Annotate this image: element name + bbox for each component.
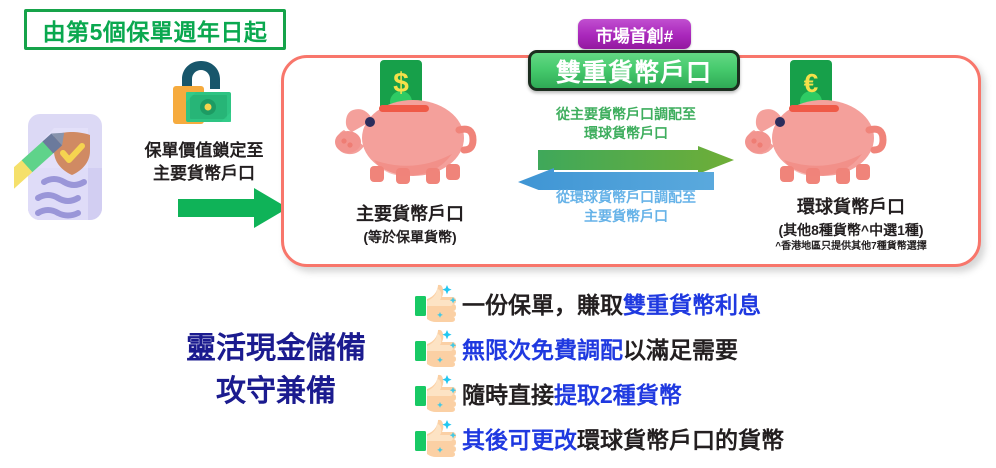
flexible-cash-heading: 靈活現金儲備 攻守兼備	[148, 328, 404, 413]
thumbs-up-icon	[414, 373, 460, 413]
lock-caption-line1: 保單價值鎖定至	[120, 140, 288, 163]
policy-document-icon	[14, 108, 110, 226]
primary-account-sub: (等於保單貨幣)	[320, 228, 500, 246]
benefit-item: 其後可更改環球貨幣戶口的貨幣	[414, 417, 984, 459]
thumbs-up-icon	[414, 328, 460, 368]
svg-text:$: $	[393, 67, 409, 98]
benefit-item: 一份保單，賺取雙重貨幣利息	[414, 282, 984, 324]
left-arrow-icon	[518, 168, 714, 190]
benefit-highlight: 其後可更改	[462, 427, 577, 453]
global-account-title: 環球貨幣戶口	[726, 196, 976, 219]
flexible-cash-heading-line1: 靈活現金儲備	[148, 328, 404, 371]
benefit-highlight: 提取2種貨幣	[554, 382, 682, 408]
transfer-bottom-line1: 從環球貨幣戶口調配至	[518, 188, 734, 207]
benefit-text: 無限次免費調配以滿足需要	[462, 331, 738, 365]
transfer-top-line2: 環球貨幣戶口	[518, 124, 734, 143]
benefit-text: 其後可更改環球貨幣戶口的貨幣	[462, 421, 784, 455]
market-first-badge-label: 市場首創#	[596, 22, 673, 47]
transfer-bottom-line2: 主要貨幣戶口	[518, 207, 734, 226]
benefit-highlight: 無限次免費調配	[462, 337, 623, 363]
transfer-arrows	[516, 146, 736, 190]
benefit-item: 無限次免費調配以滿足需要	[414, 327, 984, 369]
benefit-plain1: 隨時直接	[462, 382, 554, 408]
benefit-item: 隨時直接提取2種貨幣	[414, 372, 984, 414]
benefit-text: 隨時直接提取2種貨幣	[462, 376, 682, 410]
global-account-caption: 環球貨幣戶口 (其他8種貨幣^中選1種) ^香港地區只提供其他7種貨幣選擇	[726, 196, 976, 253]
lock-caption-line2: 主要貨幣戶口	[120, 163, 288, 186]
global-account-footnote: ^香港地區只提供其他7種貨幣選擇	[726, 240, 976, 253]
benefit-list: 一份保單，賺取雙重貨幣利息 無限次免費調配以滿足需要	[414, 282, 984, 462]
benefit-text: 一份保單，賺取雙重貨幣利息	[462, 286, 761, 320]
transfer-primary-to-global-label: 從主要貨幣戶口調配至 環球貨幣戶口	[518, 105, 734, 143]
primary-account-piggy-bank: $	[330, 58, 490, 198]
transfer-top-line1: 從主要貨幣戶口調配至	[518, 105, 734, 124]
lock-caption: 保單價值鎖定至 主要貨幣戶口	[120, 140, 288, 186]
right-arrow-icon	[538, 146, 734, 174]
global-account-sub: (其他8種貨幣^中選1種)	[726, 221, 976, 239]
primary-account-caption: 主要貨幣戶口 (等於保單貨幣)	[320, 203, 500, 246]
start-date-banner-label: 由第5個保單週年日起	[43, 13, 268, 47]
flexible-cash-heading-line2: 攻守兼備	[148, 371, 404, 414]
primary-account-title: 主要貨幣戶口	[320, 203, 500, 226]
market-first-badge: 市場首創#	[578, 19, 691, 49]
start-date-banner: 由第5個保單週年日起	[24, 9, 286, 50]
thumbs-up-icon	[414, 418, 460, 458]
svg-text:€: €	[804, 68, 818, 98]
global-account-piggy-bank: €	[740, 58, 900, 198]
transfer-global-to-primary-label: 從環球貨幣戶口調配至 主要貨幣戶口	[518, 188, 734, 226]
dual-currency-title-label: 雙重貨幣戶口	[556, 53, 712, 89]
benefit-highlight: 雙重貨幣利息	[623, 292, 761, 318]
benefit-plain2: 以滿足需要	[623, 337, 738, 363]
benefit-plain1: 一份保單，賺取	[462, 292, 623, 318]
thumbs-up-icon	[414, 283, 460, 323]
right-arrow-icon	[178, 188, 288, 228]
benefit-plain2: 環球貨幣戶口的貨幣	[577, 427, 784, 453]
dual-currency-title-plate: 雙重貨幣戶口	[528, 50, 740, 91]
lock-money-icon	[163, 58, 239, 130]
